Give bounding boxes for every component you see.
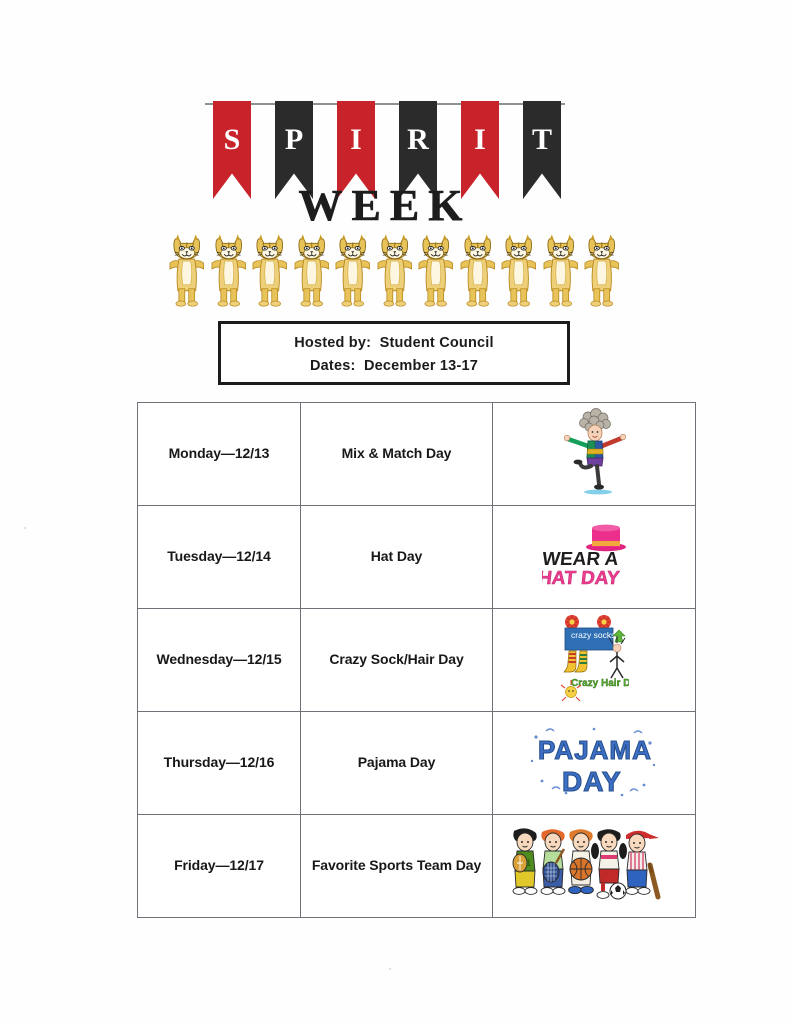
bobcat-mascot-icon [166,233,208,307]
banner-string [205,103,565,105]
bobcat-mascot-icon [291,233,333,307]
hat-art-text-top: WEAR A [542,549,620,570]
bobcat-mascot-icon [249,233,291,307]
day-cell: Monday—12/13 [138,403,301,506]
dates-line: Dates: December 13-17 [310,358,478,374]
day-label: Wednesday—12/15 [156,651,281,667]
art-cell: crazy socks [493,609,696,712]
pajama-art-text-top: PAJAMA [538,735,652,765]
pajama-art-text-bottom: DAY [562,766,622,797]
bobcat-mascot-border [166,233,622,307]
mix-and-match-dancer-clipart [558,408,630,500]
art-cell: 1 [493,815,696,918]
bobcat-mascot-icon [540,233,582,307]
art-cell: WEAR A HAT DAY [493,506,696,609]
hosted-by-line: Hosted by: Student Council [294,335,494,351]
bobcat-mascot-icon [415,233,457,307]
day-cell: Tuesday—12/14 [138,506,301,609]
spirit-week-schedule-table: Monday—12/13 Mix & Match Day [137,402,696,918]
day-cell: Wednesday—12/15 [138,609,301,712]
day-label: Tuesday—12/14 [167,548,271,564]
art-cell [493,403,696,506]
theme-cell: Mix & Match Day [301,403,493,506]
day-label: Friday—12/17 [174,857,264,873]
day-label: Thursday—12/16 [164,754,275,770]
theme-label: Pajama Day [358,754,436,770]
theme-label: Hat Day [371,548,422,564]
flyer-page: S P I R I T WEEK [0,0,791,1024]
table-row: Wednesday—12/15 Crazy Sock/Hair Day [138,609,696,712]
bobcat-mascot-icon [374,233,416,307]
theme-cell: Favorite Sports Team Day [301,815,493,918]
bobcat-mascot-icon [498,233,540,307]
bobcat-mascot-icon [457,233,499,307]
day-cell: Thursday—12/16 [138,712,301,815]
table-row: Tuesday—12/14 Hat Day [138,506,696,609]
pajama-day-clipart: PAJAMA DAY [526,723,662,803]
scan-speck [389,968,391,970]
theme-cell: Pajama Day [301,712,493,815]
table-row: Friday—12/17 Favorite Sports Team Day [138,815,696,918]
bobcat-mascot-icon [208,233,250,307]
event-info-box: Hosted by: Student Council Dates: Decemb… [218,321,570,385]
bobcat-mascot-icon [581,233,623,307]
bobcat-mascot-icon [332,233,374,307]
day-cell: Friday—12/17 [138,815,301,918]
day-label: Monday—12/13 [169,445,270,461]
scan-speck [24,527,26,529]
table-row: Monday—12/13 Mix & Match Day [138,403,696,506]
week-subtitle: WEEK [205,180,565,231]
theme-cell: Hat Day [301,506,493,609]
theme-label: Favorite Sports Team Day [312,857,481,873]
art-cell: PAJAMA DAY [493,712,696,815]
hat-art-text-bottom: HAT DAY [542,568,621,589]
crazy-sock-hair-day-clipart: crazy socks [559,614,629,706]
svg-text:1: 1 [526,858,531,868]
wear-a-hat-day-clipart: WEAR A HAT DAY [542,523,646,591]
theme-label: Mix & Match Day [342,445,452,461]
sports-kids-clipart: 1 [506,825,682,907]
table-row: Thursday—12/16 Pajama Day [138,712,696,815]
theme-cell: Crazy Sock/Hair Day [301,609,493,712]
sock-art-text-bottom: Crazy Hair Day [571,678,629,689]
theme-label: Crazy Sock/Hair Day [329,651,463,667]
